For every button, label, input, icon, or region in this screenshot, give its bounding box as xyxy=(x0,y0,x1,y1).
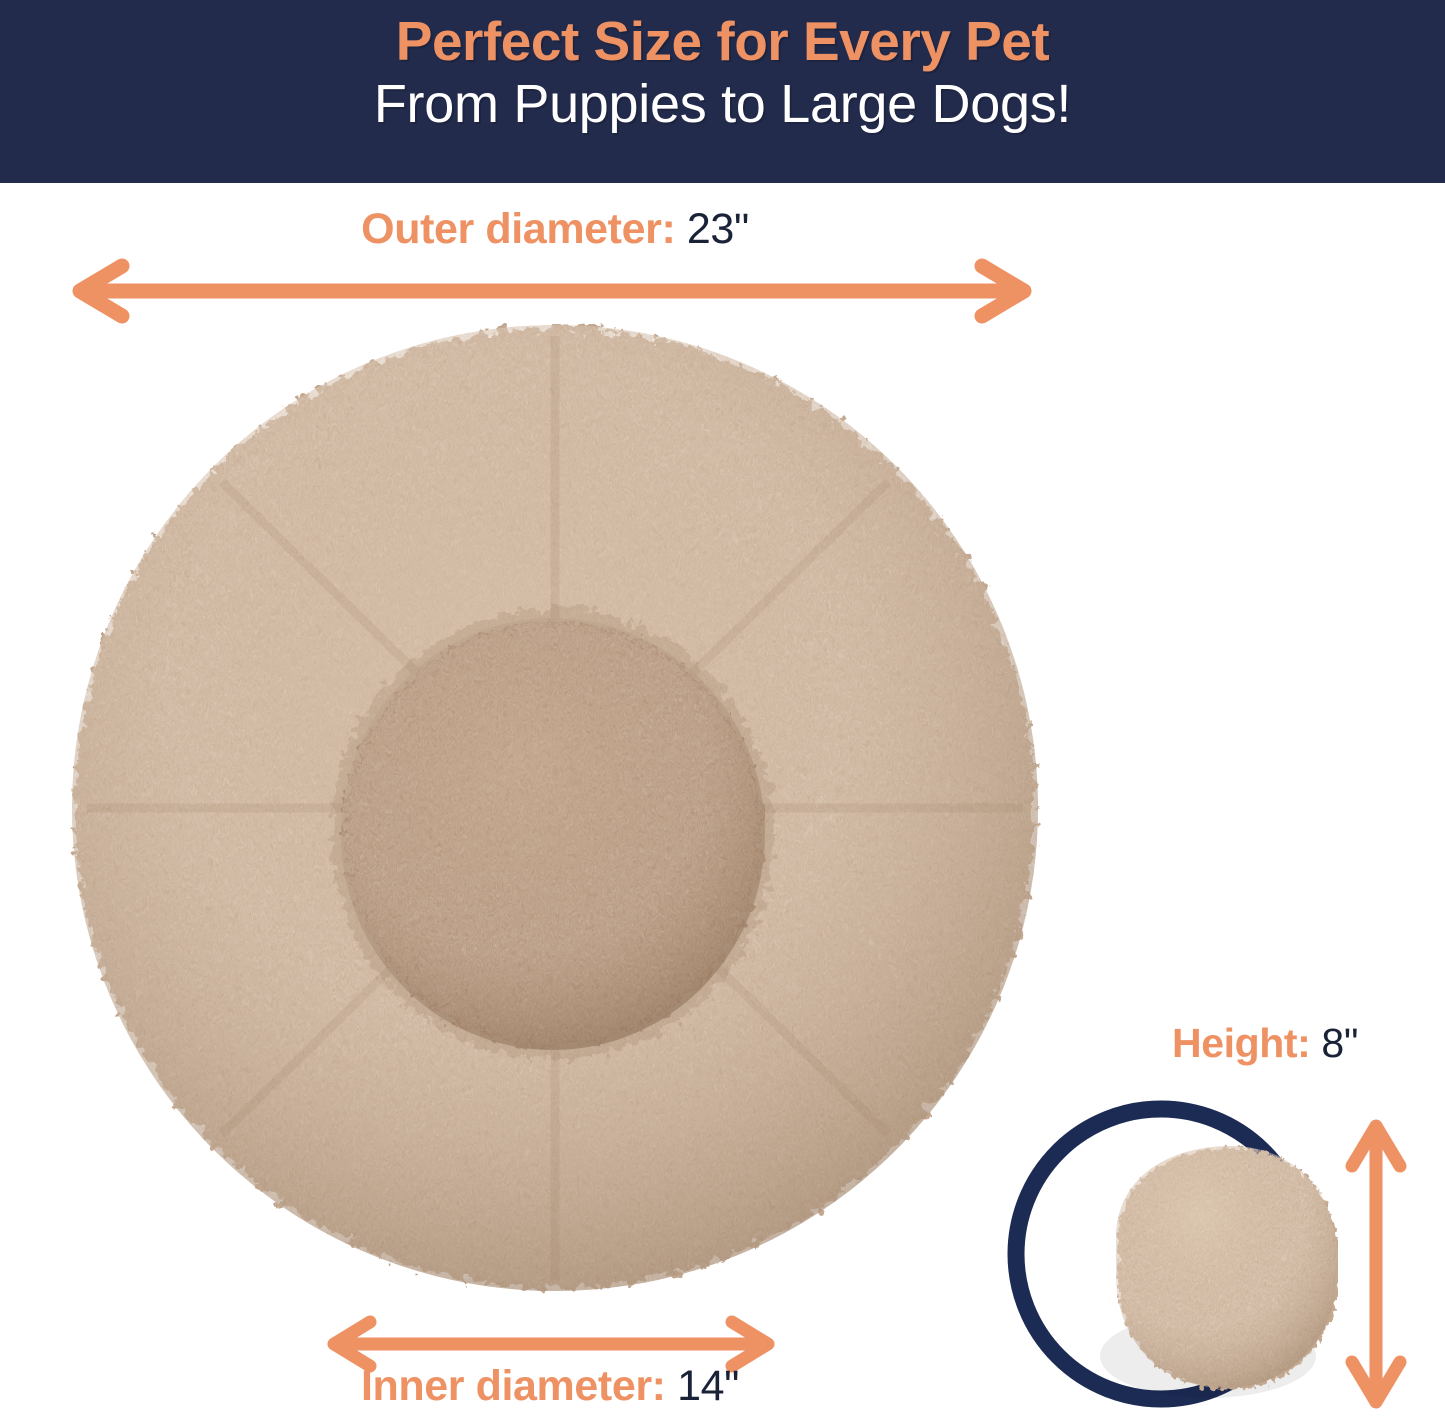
outer-diameter-label: Outer diameter: 23" xyxy=(0,205,1110,254)
main-product-image-top-view xyxy=(68,322,1042,1294)
infographic-page: Perfect Size for Every Pet From Puppies … xyxy=(0,0,1445,1421)
header-banner: Perfect Size for Every Pet From Puppies … xyxy=(0,0,1445,183)
inner-diameter-value: 14" xyxy=(677,1362,739,1410)
headline-secondary: From Puppies to Large Dogs! xyxy=(0,75,1445,134)
outer-diameter-arrow-icon xyxy=(60,258,1044,324)
outer-diameter-name: Outer diameter: xyxy=(361,205,675,253)
inner-diameter-label: Inner diameter: 14" xyxy=(0,1362,1100,1411)
height-arrow-icon xyxy=(1340,1112,1412,1416)
inner-diameter-name: Inner diameter: xyxy=(361,1362,666,1410)
height-label: Height: 8" xyxy=(1100,1020,1430,1067)
height-value: 8" xyxy=(1321,1020,1358,1066)
headline-primary: Perfect Size for Every Pet xyxy=(0,12,1445,71)
height-name: Height: xyxy=(1172,1020,1310,1066)
outer-diameter-value: 23" xyxy=(687,205,749,253)
